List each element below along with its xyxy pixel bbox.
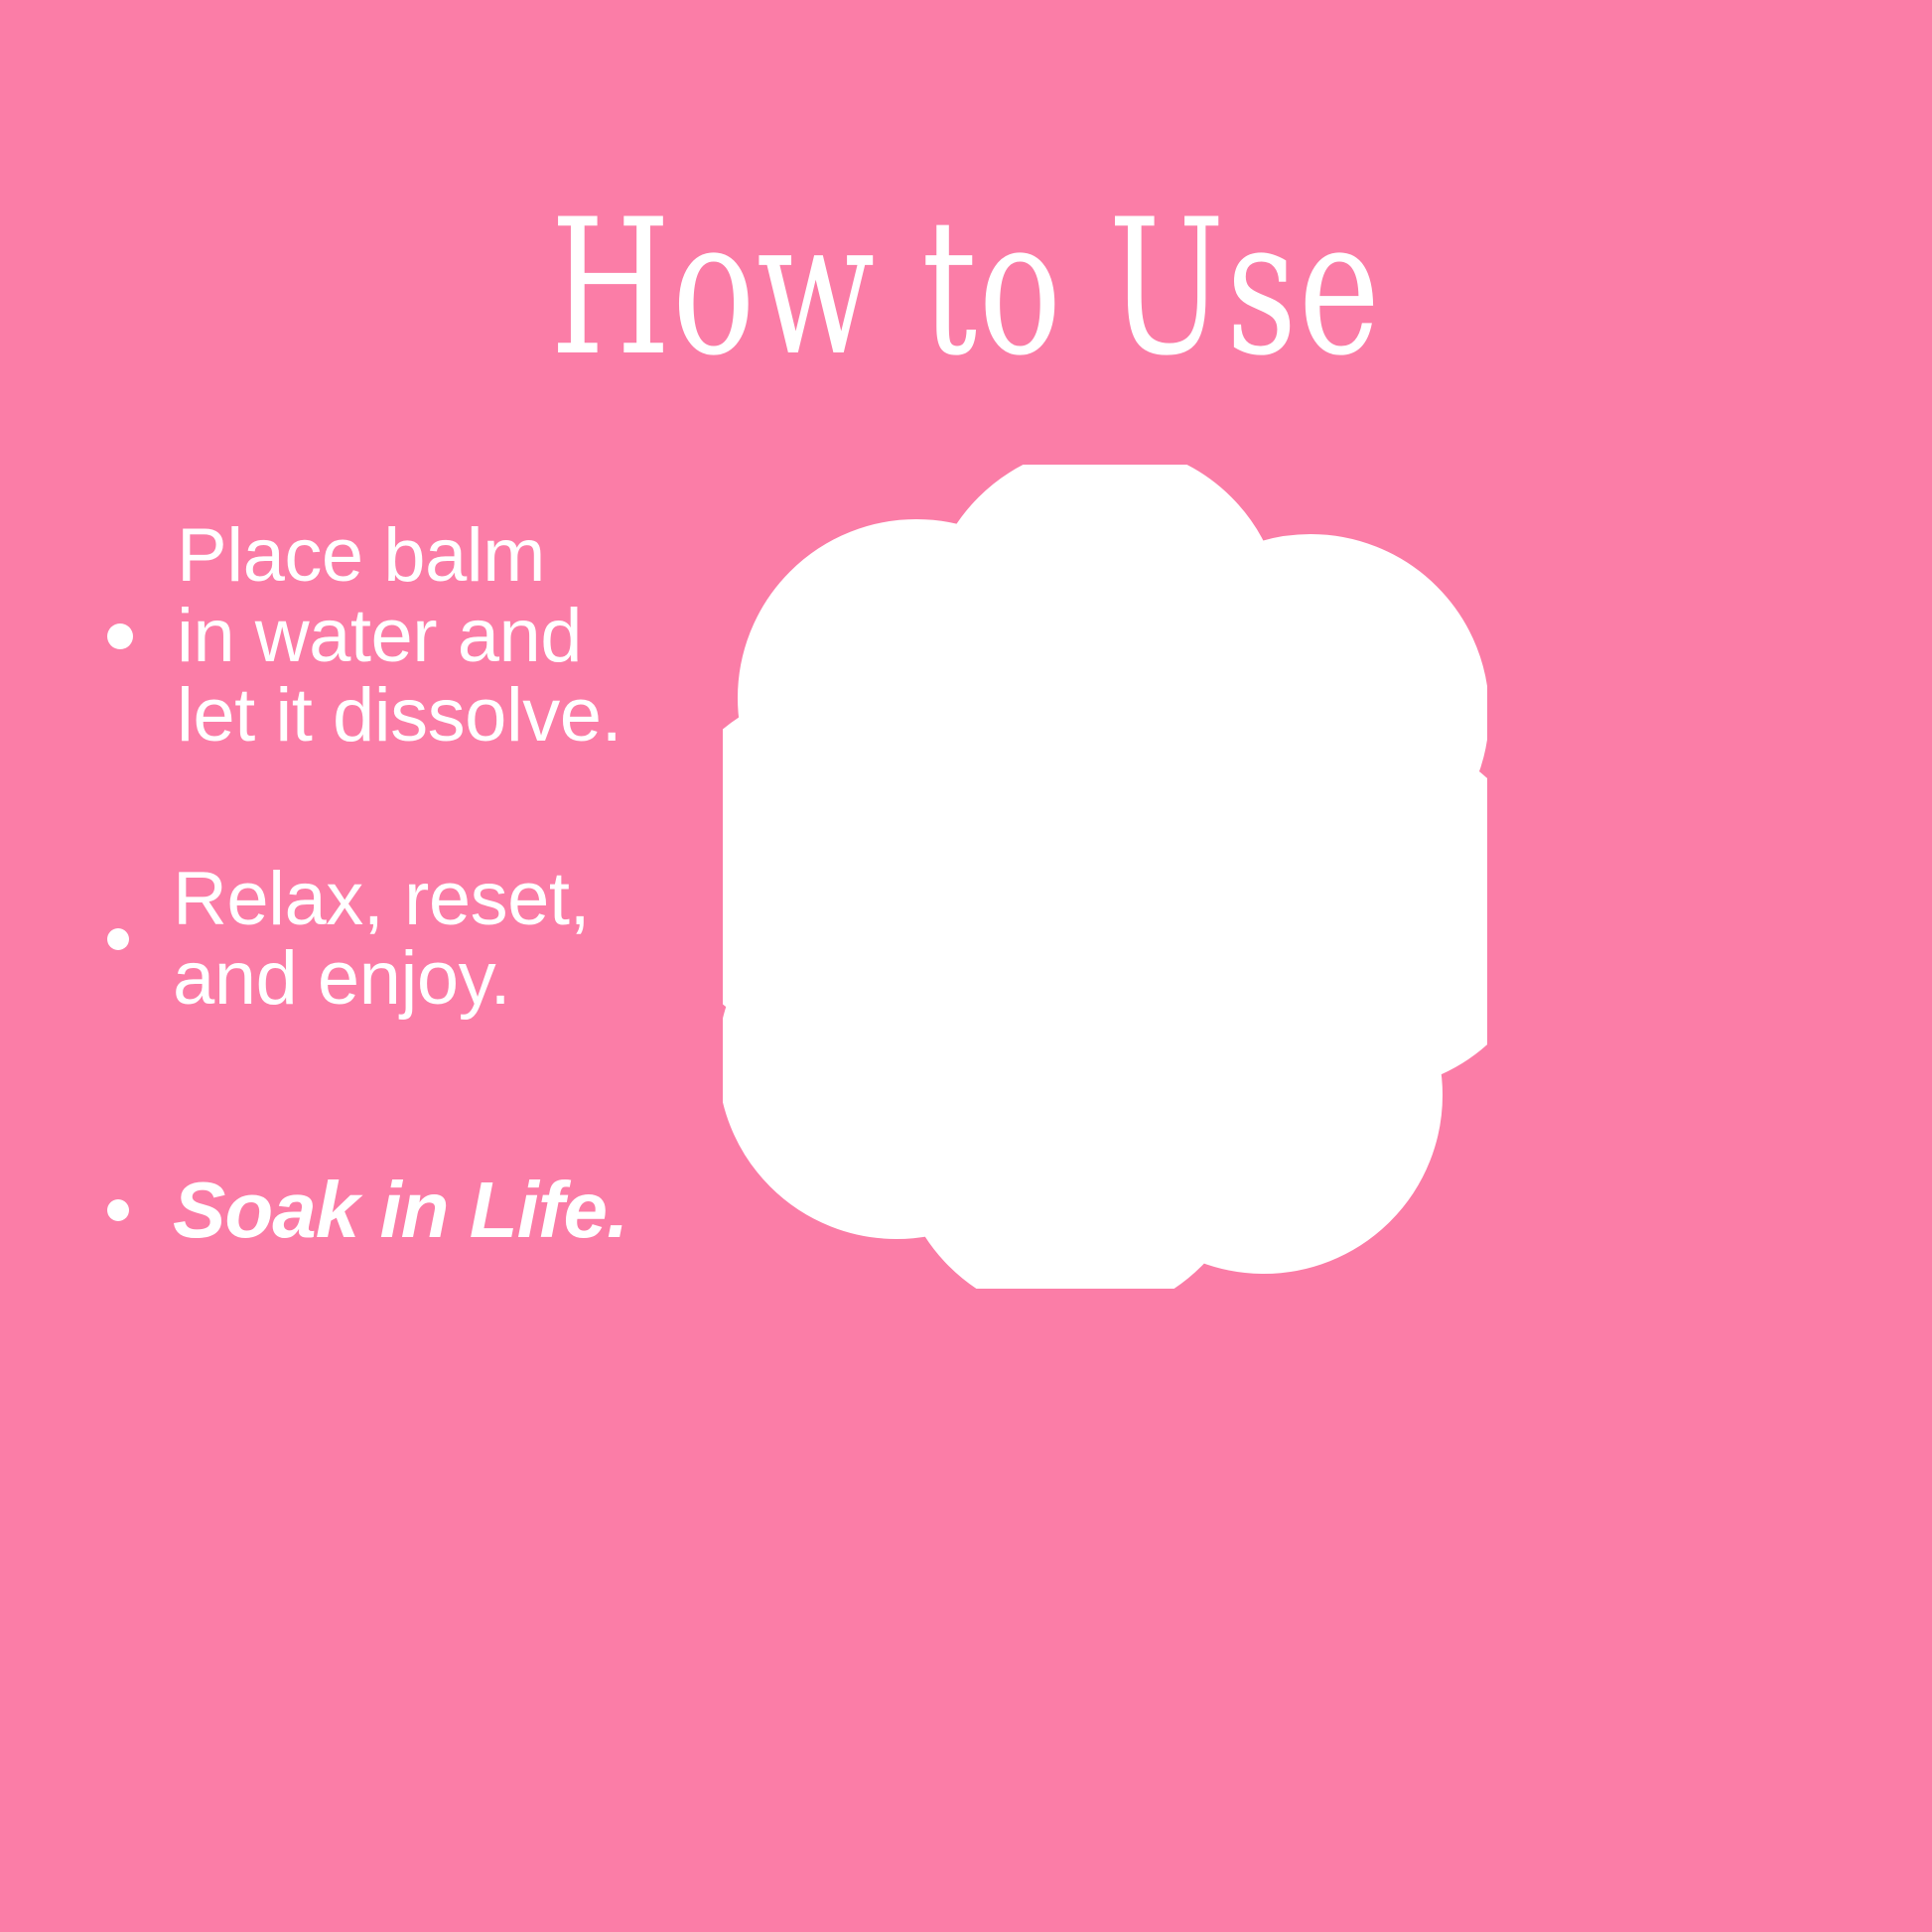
- page-title: How to Use: [212, 195, 1720, 382]
- list-item: Soak in Life.: [107, 1169, 802, 1253]
- list-item: Relax, reset, and enjoy.: [107, 860, 802, 1020]
- instruction-list: Place balm in water and let it dissolve.…: [107, 516, 802, 1253]
- bullet-dot-icon: [107, 1199, 129, 1221]
- poster-canvas: How to Use Place balm in water and let i…: [0, 0, 1932, 1932]
- list-item-label: Relax, reset, and enjoy.: [173, 860, 590, 1020]
- product-image: [723, 465, 1487, 1289]
- bullet-dot-icon: [107, 623, 133, 649]
- list-item: Place balm in water and let it dissolve.: [107, 516, 802, 757]
- list-item-label: Soak in Life.: [173, 1169, 627, 1253]
- bullet-dot-icon: [107, 928, 129, 950]
- flower-outline: [723, 475, 1487, 1289]
- list-item-label: Place balm in water and let it dissolve.: [177, 516, 621, 757]
- flower-graphic: [723, 465, 1487, 1289]
